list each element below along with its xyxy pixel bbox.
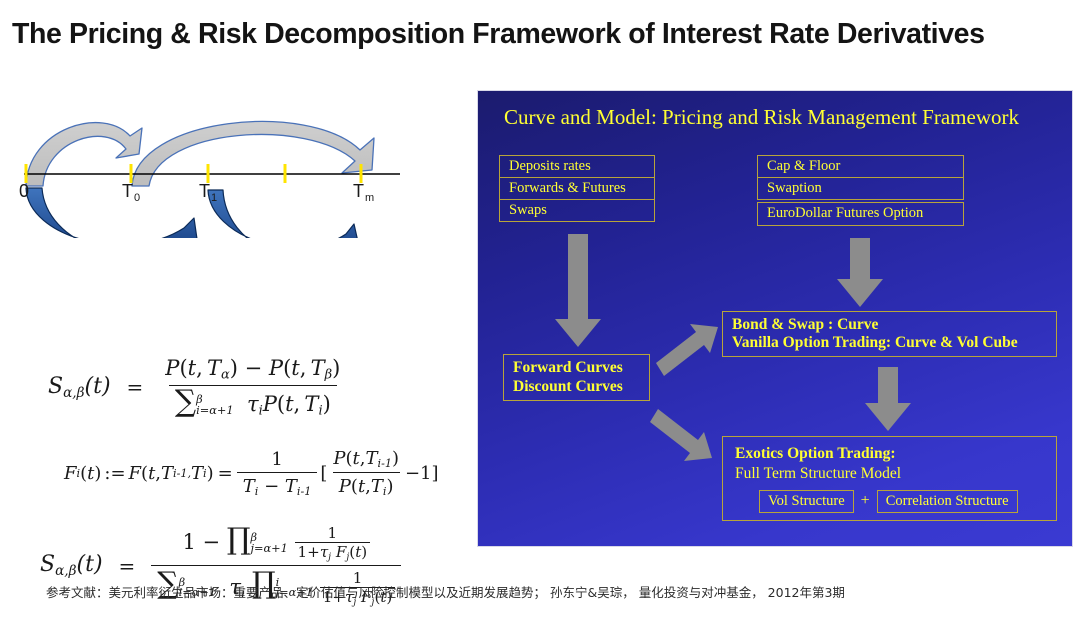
- arrow-curves-to-bondswap: [656, 324, 718, 376]
- exotics-box-line1: Exotics Option Trading:: [735, 444, 1056, 463]
- correlation-structure-box[interactable]: Correlation Structure: [877, 490, 1018, 513]
- plus-sign: +: [861, 492, 870, 510]
- product-box-cap-floor-label: Cap & Floor: [767, 158, 963, 175]
- input-box-forwards-futures-label: Forwards & Futures: [509, 180, 654, 197]
- timeline-labels: 0 T 0 T 1 T m: [19, 181, 374, 204]
- svg-text:T: T: [122, 181, 133, 201]
- left-column: 0 T 0 T 1 T m Sα,β(t) = P(t, Tα) − P(t, …: [0, 88, 470, 558]
- svg-text:m: m: [365, 192, 374, 204]
- exotics-box-line2: Full Term Structure Model: [735, 464, 1056, 483]
- slide-root: The Pricing & Risk Decomposition Framewo…: [0, 0, 1080, 620]
- arrow-inputs-to-curves: [555, 234, 601, 347]
- curves-box-line1: Forward Curves: [513, 359, 649, 377]
- formula-forward-rate: Fi(t):=F(t,Ti-1,Ti)= 1 Ti − Ti-1 [ P(t,T…: [64, 448, 439, 498]
- input-box-deposits-rates-label: Deposits rates: [509, 158, 654, 175]
- product-box-eurodollar-futures-option-label: EuroDollar Futures Option: [767, 205, 963, 222]
- input-box-swaps-label: Swaps: [509, 202, 654, 219]
- bond-swap-box-line2: Vanilla Option Trading: Curve & Vol Cube: [732, 334, 1056, 352]
- product-box-eurodollar-futures-option[interactable]: EuroDollar Futures Option: [757, 202, 964, 226]
- framework-panel: Curve and Model: Pricing and Risk Manage…: [478, 91, 1072, 546]
- page-title: The Pricing & Risk Decomposition Framewo…: [12, 18, 1068, 51]
- upper-arc-2: [132, 121, 374, 186]
- exotics-box[interactable]: Exotics Option Trading: Full Term Struct…: [722, 436, 1057, 521]
- svg-text:1: 1: [211, 192, 217, 204]
- arrow-products-to-bondswap: [837, 238, 883, 307]
- svg-text:0: 0: [134, 192, 140, 204]
- reference-footer: 参考文献：美元利率衍生品市场：重要产品、定价估值与风险控制模型以及近期发展趋势；…: [46, 582, 1056, 601]
- upper-arc-1: [26, 123, 142, 186]
- input-box-deposits-rates[interactable]: Deposits rates: [499, 155, 655, 178]
- product-box-swaption[interactable]: Swaption: [757, 177, 964, 200]
- panel-title: Curve and Model: Pricing and Risk Manage…: [504, 105, 1019, 130]
- input-box-swaps[interactable]: Swaps: [499, 199, 655, 222]
- bond-swap-box[interactable]: Bond & Swap : Curve Vanilla Option Tradi…: [722, 311, 1057, 357]
- vol-structure-box[interactable]: Vol Structure: [759, 490, 854, 513]
- svg-text:T: T: [353, 181, 364, 201]
- svg-text:T: T: [199, 181, 210, 201]
- lower-arc-1: [26, 188, 198, 238]
- arrow-bondswap-to-exotics: [865, 367, 911, 431]
- product-box-swaption-label: Swaption: [767, 180, 963, 197]
- input-box-forwards-futures[interactable]: Forwards & Futures: [499, 177, 655, 200]
- formula-swap-rate: Sα,β(t) = P(t, Tα) − P(t, Tβ) ∑βi=α+1 τi…: [48, 356, 346, 418]
- bond-swap-box-line1: Bond & Swap : Curve: [732, 316, 1056, 334]
- curves-box[interactable]: Forward Curves Discount Curves: [503, 354, 650, 401]
- timeline-diagram: 0 T 0 T 1 T m: [8, 88, 448, 238]
- curves-box-line2: Discount Curves: [513, 378, 649, 396]
- product-box-cap-floor[interactable]: Cap & Floor: [757, 155, 964, 178]
- arrow-curves-to-exotics: [650, 409, 712, 461]
- lower-arc-2: [208, 190, 360, 238]
- svg-text:0: 0: [19, 181, 29, 201]
- exotics-sub-row: Vol Structure + Correlation Structure: [735, 490, 1056, 513]
